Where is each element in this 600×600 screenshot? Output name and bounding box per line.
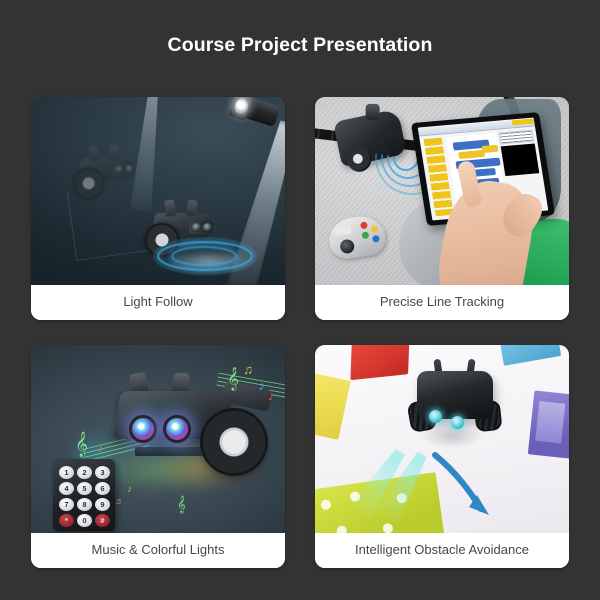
card-image-music-lights: 𝄞 ♪ ♪ 𝄞 𝄞 ♪ ♫ ♩ ♬ 1 2 3 4 bbox=[31, 345, 285, 533]
robot-car bbox=[411, 363, 497, 437]
flashlight-icon bbox=[226, 97, 281, 136]
toy-block-purple-panel bbox=[535, 401, 565, 443]
card-intelligent-obstacle-avoidance[interactable]: Intelligent Obstacle Avoidance bbox=[315, 345, 569, 568]
remote-key-5[interactable]: 5 bbox=[77, 482, 92, 495]
ide-info-panel bbox=[498, 130, 534, 145]
remote-key-hash[interactable]: # bbox=[95, 514, 110, 527]
robot-eye-left bbox=[192, 223, 201, 232]
rgb-headlight-right bbox=[163, 415, 191, 443]
remote-key-3[interactable]: 3 bbox=[95, 466, 110, 479]
robot-fork-left bbox=[164, 199, 176, 216]
robot-fork-right bbox=[186, 200, 198, 217]
robot-car bbox=[111, 367, 271, 487]
ultrasonic-sensor-left bbox=[429, 410, 442, 423]
toy-block-purple bbox=[528, 390, 569, 459]
presentation-page: Course Project Presentation bbox=[0, 0, 600, 600]
project-card-grid: Light Follow bbox=[31, 97, 569, 568]
music-note-icon: ♫ bbox=[243, 363, 253, 376]
robot-eye-right bbox=[203, 223, 212, 232]
card-caption-light-follow: Light Follow bbox=[31, 285, 285, 320]
ide-preview-stage bbox=[501, 143, 540, 176]
gamepad-button-green bbox=[361, 231, 369, 239]
gamepad-button-blue bbox=[372, 235, 380, 243]
remote-key-6[interactable]: 6 bbox=[95, 482, 110, 495]
gamepad-button-red bbox=[360, 221, 368, 229]
code-block bbox=[481, 145, 498, 153]
music-note-icon: ♬ bbox=[115, 497, 124, 506]
remote-key-0[interactable]: 0 bbox=[77, 514, 92, 527]
robot-car-ghost bbox=[62, 148, 167, 206]
ir-remote-control[interactable]: 1 2 3 4 5 6 7 8 9 * 0 # bbox=[53, 459, 115, 531]
music-note-clef: 𝄞 bbox=[75, 433, 88, 455]
card-caption-music-lights: Music & Colorful Lights bbox=[31, 533, 285, 568]
remote-key-8[interactable]: 8 bbox=[77, 498, 92, 511]
scene-music-lights: 𝄞 ♪ ♪ 𝄞 𝄞 ♪ ♫ ♩ ♬ 1 2 3 4 bbox=[31, 345, 285, 533]
card-image-light-follow bbox=[31, 97, 285, 285]
card-caption-line-tracking: Precise Line Tracking bbox=[315, 285, 569, 320]
music-note-icon: ♪ bbox=[259, 379, 266, 392]
rgb-headlight-left bbox=[129, 415, 157, 443]
music-note-clef: 𝄞 bbox=[227, 369, 239, 389]
light-sensor-ring-inner bbox=[171, 246, 237, 266]
page-title: Course Project Presentation bbox=[0, 34, 600, 57]
remote-keypad[interactable]: 1 2 3 4 5 6 7 8 9 * 0 # bbox=[59, 466, 109, 527]
toy-block-yellow bbox=[315, 370, 351, 440]
music-note-icon: ♪ bbox=[97, 441, 104, 454]
gamepad-dpad bbox=[334, 225, 351, 236]
music-note-icon: ♪ bbox=[127, 485, 132, 495]
avoidance-arrow-icon bbox=[427, 449, 507, 529]
robot-wheel bbox=[203, 411, 265, 473]
robot-circuit-board bbox=[135, 447, 207, 456]
remote-key-star[interactable]: * bbox=[59, 514, 74, 527]
remote-key-7[interactable]: 7 bbox=[59, 498, 74, 511]
block-dot bbox=[336, 525, 347, 533]
card-caption-obstacle-avoidance: Intelligent Obstacle Avoidance bbox=[315, 533, 569, 568]
card-image-line-tracking bbox=[315, 97, 569, 285]
music-note-clef: 𝄞 bbox=[177, 497, 186, 512]
card-light-follow[interactable]: Light Follow bbox=[31, 97, 285, 320]
remote-key-2[interactable]: 2 bbox=[77, 466, 92, 479]
toy-block-red bbox=[350, 345, 409, 380]
card-music-colorful-lights[interactable]: 𝄞 ♪ ♪ 𝄞 𝄞 ♪ ♫ ♩ ♬ 1 2 3 4 bbox=[31, 345, 285, 568]
gamepad-joystick bbox=[339, 239, 355, 255]
remote-key-4[interactable]: 4 bbox=[59, 482, 74, 495]
remote-key-1[interactable]: 1 bbox=[59, 466, 74, 479]
block-dot bbox=[382, 523, 393, 533]
scene-light-follow bbox=[31, 97, 285, 285]
scene-obstacle-avoidance bbox=[315, 345, 569, 533]
block-dot bbox=[320, 499, 331, 510]
card-image-obstacle-avoidance bbox=[315, 345, 569, 533]
robot-shell bbox=[417, 371, 493, 419]
toy-block-blue bbox=[499, 345, 561, 366]
card-precise-line-tracking[interactable]: Precise Line Tracking bbox=[315, 97, 569, 320]
music-note-icon: ♩ bbox=[268, 389, 281, 402]
robot-fork-right bbox=[109, 145, 119, 160]
robot-fork-left bbox=[88, 145, 100, 161]
scene-line-tracking bbox=[315, 97, 569, 285]
ultrasonic-sensor-right bbox=[451, 416, 464, 429]
code-block bbox=[458, 150, 485, 159]
gamepad-button-yellow bbox=[371, 225, 379, 233]
remote-key-9[interactable]: 9 bbox=[95, 498, 110, 511]
